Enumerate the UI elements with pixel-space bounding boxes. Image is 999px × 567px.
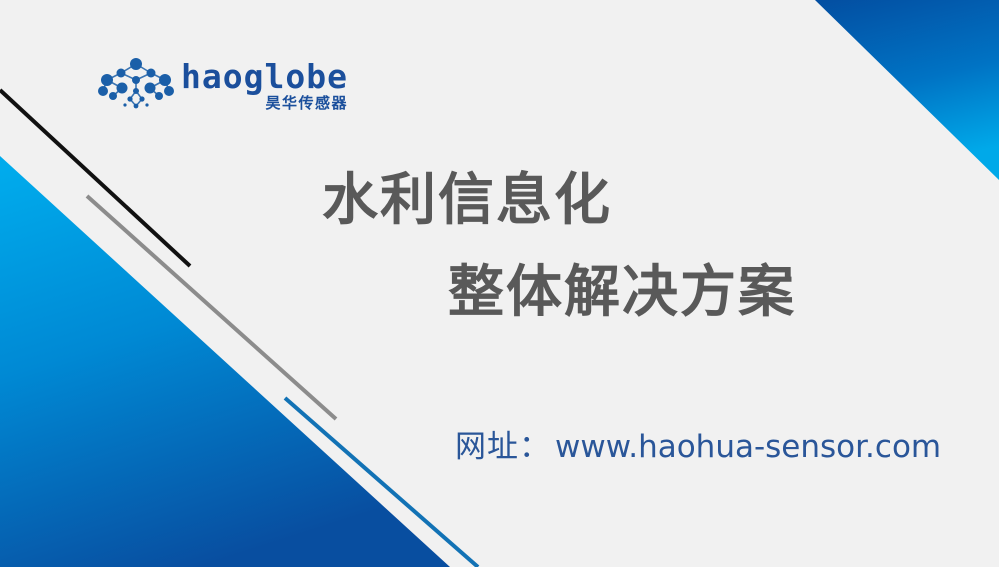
logo-text-block: haoglobe 昊华传感器 [181,58,348,111]
website-row: 网址： www.haohua-sensor.com [455,421,941,466]
logo-subtext: 昊华传感器 [265,96,348,111]
company-logo[interactable]: haoglobe 昊华传感器 [97,58,327,120]
slide-title-line-1: 水利信息化 [322,173,612,229]
slide-canvas: haoglobe 昊华传感器 水利信息化 整体解决方案 网址： www.haoh… [0,0,999,567]
haoglobe-molecule-icon [97,58,175,114]
website-label: 网址： [455,421,551,466]
website-url[interactable]: www.haohua-sensor.com [555,429,941,465]
slide-title-line-2: 整体解决方案 [448,265,796,321]
logo-wordmark: haoglobe [181,60,348,93]
